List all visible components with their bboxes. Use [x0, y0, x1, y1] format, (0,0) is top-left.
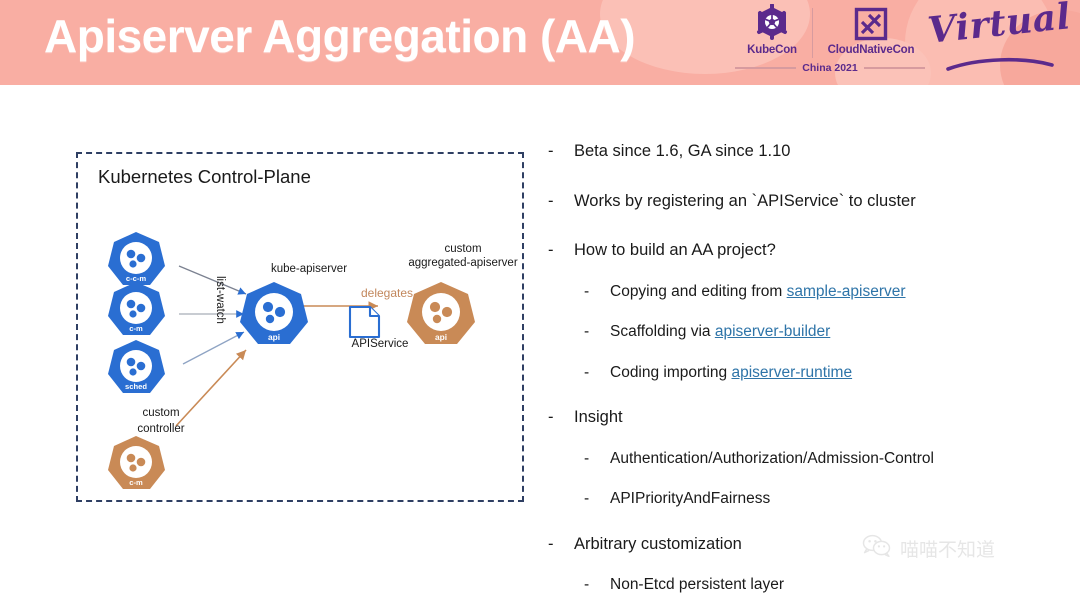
bullet-text: Arbitrary customization: [574, 536, 742, 553]
wechat-icon: [862, 534, 892, 563]
svg-text:c-c-m: c-c-m: [126, 274, 147, 283]
bullet-item: - APIPriorityAndFairness: [584, 491, 1068, 507]
label-line-1: custom: [444, 243, 481, 255]
bullet-item: - Coding importing apiserver-runtime: [584, 365, 1068, 381]
bullet-text-prefix: Copying and editing from: [610, 283, 787, 300]
label-line-2: aggregated-apiserver: [408, 257, 517, 269]
spacer: [548, 160, 1068, 193]
bullet-item: - Scaffolding via apiserver-builder: [584, 324, 1068, 340]
bullet-text: Scaffolding via apiserver-builder: [610, 324, 830, 340]
svg-text:api: api: [435, 332, 447, 342]
svg-text:c-m: c-m: [129, 478, 143, 487]
watermark-text: 喵喵不知道: [900, 535, 995, 562]
kubecon-logo: KubeCon: [735, 4, 809, 56]
bullet-item: - Non-Etcd persistent layer: [584, 577, 1068, 593]
apiservice-document-icon: [350, 307, 379, 337]
watermark: 喵喵不知道: [862, 534, 995, 563]
bullet-dash: -: [548, 536, 574, 553]
bullet-item: - Authentication/Authorization/Admission…: [584, 451, 1068, 467]
kubernetes-helm-icon: [735, 4, 809, 44]
link-apiserver-builder[interactable]: apiserver-builder: [715, 323, 830, 340]
label-list-watch: list-watch: [214, 276, 226, 324]
bullet-dash: -: [548, 143, 574, 160]
spacer: [548, 466, 1068, 491]
label-delegates: delegates: [342, 286, 432, 300]
bullet-item: - Works by registering an `APIService` t…: [548, 193, 1068, 210]
bullet-text: Beta since 1.6, GA since 1.10: [574, 143, 790, 160]
slide-header: Apiserver Aggregation (AA): [0, 0, 1080, 85]
event-year-row: China 2021: [735, 62, 925, 74]
label-kube-apiserver: kube-apiserver: [244, 262, 374, 276]
bullet-item: - How to build an AA project?: [548, 242, 1068, 259]
bullet-dash: -: [584, 284, 610, 300]
bullet-dash: -: [584, 577, 610, 593]
diagram-graphics: c-c-m c-m sched: [78, 154, 526, 504]
slide: Apiserver Aggregation (AA): [0, 0, 1080, 600]
bullet-text: Copying and editing from sample-apiserve…: [610, 284, 906, 300]
page-title: Apiserver Aggregation (AA): [44, 9, 635, 63]
bullet-text: APIPriorityAndFairness: [610, 491, 770, 507]
node-custom-controller: c-m: [108, 436, 165, 489]
bullet-item: - Beta since 1.6, GA since 1.10: [548, 143, 1068, 160]
node-kube-apiserver: api: [240, 282, 308, 344]
bullet-dash: -: [548, 242, 574, 259]
bullet-dash: -: [548, 193, 574, 210]
bullet-text: Non-Etcd persistent layer: [610, 577, 784, 593]
bullet-dash: -: [584, 365, 610, 381]
logo-divider: [812, 8, 813, 58]
kubecon-label: KubeCon: [735, 44, 809, 56]
virtual-underline-swash: [944, 56, 1080, 78]
rule-left: [735, 67, 796, 68]
label-aggregated-apiserver: custom aggregated-apiserver: [398, 242, 528, 271]
spacer: [548, 380, 1068, 409]
node-controller-manager: c-m: [108, 282, 165, 335]
bullet-dash: -: [584, 451, 610, 467]
node-scheduler: sched: [108, 340, 165, 393]
link-apiserver-runtime[interactable]: apiserver-runtime: [731, 364, 852, 381]
bullet-item: - Insight: [548, 409, 1068, 426]
label-line-2: controller: [137, 423, 184, 435]
spacer: [548, 209, 1068, 242]
label-line-1: custom: [142, 407, 179, 419]
svg-text:api: api: [268, 332, 280, 342]
virtual-label: Virtual: [926, 0, 1070, 52]
rule-right: [864, 67, 925, 68]
bullet-text: How to build an AA project?: [574, 242, 776, 259]
spacer: [548, 340, 1068, 365]
link-sample-apiserver[interactable]: sample-apiserver: [787, 283, 906, 300]
node-cloud-controller-manager: c-c-m: [108, 232, 165, 285]
spacer: [548, 426, 1068, 451]
virtual-logo: Virtual: [928, 10, 1068, 72]
spacer: [548, 259, 1068, 284]
cloudnativecon-logo: CloudNativeCon: [817, 4, 925, 56]
bullet-text-prefix: Coding importing: [610, 364, 731, 381]
svg-text:c-m: c-m: [129, 324, 143, 333]
bullet-item: - Copying and editing from sample-apiser…: [584, 284, 1068, 300]
bullet-text: Authentication/Authorization/Admission-C…: [610, 451, 934, 467]
kubecon-cloudnativecon-logo: KubeCon CloudNativeCon China 2021: [735, 4, 925, 82]
bullet-text: Coding importing apiserver-runtime: [610, 365, 852, 381]
bullet-dash: -: [584, 324, 610, 340]
bullet-list: - Beta since 1.6, GA since 1.10 - Works …: [548, 143, 1068, 593]
cloudnativecon-label: CloudNativeCon: [817, 44, 925, 56]
bullet-text: Works by registering an `APIService` to …: [574, 193, 916, 210]
bullet-text: Insight: [574, 409, 623, 426]
label-apiservice: APIService: [330, 337, 430, 351]
bullet-dash: -: [584, 491, 610, 507]
label-custom-controller: custom controller: [106, 406, 216, 437]
svg-text:sched: sched: [125, 382, 147, 391]
spacer: [548, 507, 1068, 536]
bullet-text-prefix: Scaffolding via: [610, 323, 715, 340]
cncf-square-icon: [817, 4, 925, 44]
event-year-label: China 2021: [802, 62, 857, 74]
bullet-dash: -: [548, 409, 574, 426]
kubernetes-control-plane-diagram: Kubernetes Control-Plane: [76, 152, 524, 502]
spacer: [548, 299, 1068, 324]
